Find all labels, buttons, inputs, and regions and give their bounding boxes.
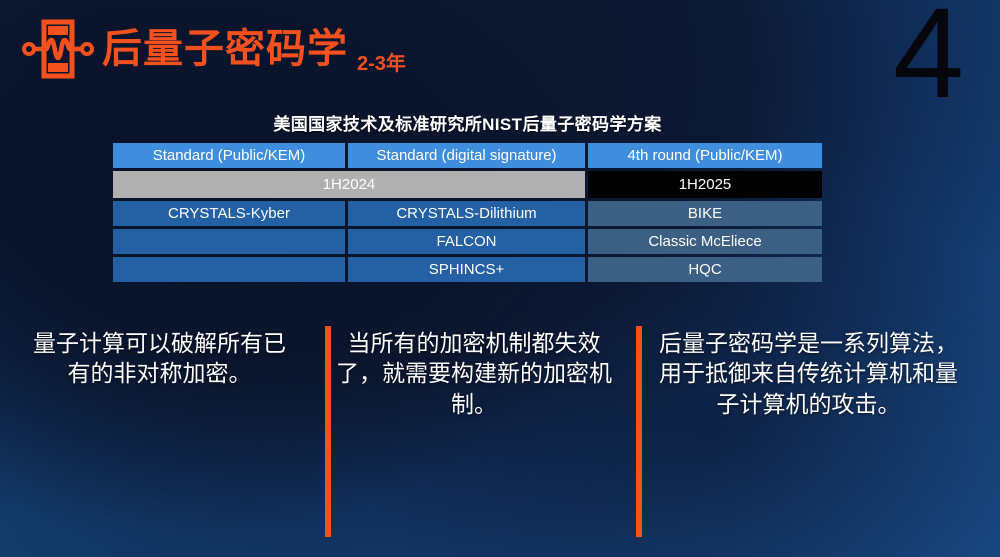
table-row: CRYSTALS-Kyber bbox=[113, 201, 345, 226]
table-row bbox=[113, 257, 345, 282]
table-header-cell-1: Standard (Public/KEM) bbox=[113, 143, 345, 168]
table-header-cell-3: 4th round (Public/KEM) bbox=[588, 143, 822, 168]
table-grid: Standard (Public/KEM) Standard (digital … bbox=[113, 143, 822, 282]
nist-pqc-table: 美国国家技术及标准研究所NIST后量子密码学方案 Standard (Publi… bbox=[113, 110, 822, 282]
table-row: Classic McEliece bbox=[588, 229, 822, 254]
slide-header: 后量子密码学 2-3年 bbox=[22, 18, 406, 80]
statement-block-2: 当所有的加密机制都失效了，就需要构建新的加密机制。 bbox=[313, 326, 633, 541]
statement-block-1: 量子计算可以破解所有已有的非对称加密。 bbox=[0, 326, 313, 541]
table-title: 美国国家技术及标准研究所NIST后量子密码学方案 bbox=[113, 110, 822, 135]
chip-waveform-icon bbox=[22, 18, 94, 80]
statement-text: 当所有的加密机制都失效了，就需要构建新的加密机制。 bbox=[333, 326, 615, 419]
table-row: HQC bbox=[588, 257, 822, 282]
statement-block-3: 后量子密码学是一系列算法，用于抵御来自传统计算机和量子计算机的攻击。 bbox=[633, 326, 988, 541]
divider-2 bbox=[636, 326, 642, 537]
table-row bbox=[113, 229, 345, 254]
statement-blocks: 量子计算可以破解所有已有的非对称加密。 当所有的加密机制都失效了，就需要构建新的… bbox=[0, 326, 1000, 541]
table-row: BIKE bbox=[588, 201, 822, 226]
page-subtitle: 2-3年 bbox=[357, 47, 406, 80]
table-row: CRYSTALS-Dilithium bbox=[348, 201, 585, 226]
table-row: FALCON bbox=[348, 229, 585, 254]
statement-text: 后量子密码学是一系列算法，用于抵御来自传统计算机和量子计算机的攻击。 bbox=[655, 326, 962, 419]
table-date-left: 1H2024 bbox=[113, 171, 585, 198]
page-title: 后量子密码学 bbox=[102, 29, 348, 69]
table-date-right: 1H2025 bbox=[588, 171, 822, 198]
slide-number: 4 bbox=[893, 0, 964, 118]
table-header-cell-2: Standard (digital signature) bbox=[348, 143, 585, 168]
table-row: SPHINCS+ bbox=[348, 257, 585, 282]
divider-1 bbox=[325, 326, 331, 537]
slide-canvas: 4 后量子密码学 2-3年 美国国家技术及标准研究所NIST后量子密码学方案 S… bbox=[0, 0, 1000, 557]
statement-text: 量子计算可以破解所有已有的非对称加密。 bbox=[22, 326, 297, 389]
